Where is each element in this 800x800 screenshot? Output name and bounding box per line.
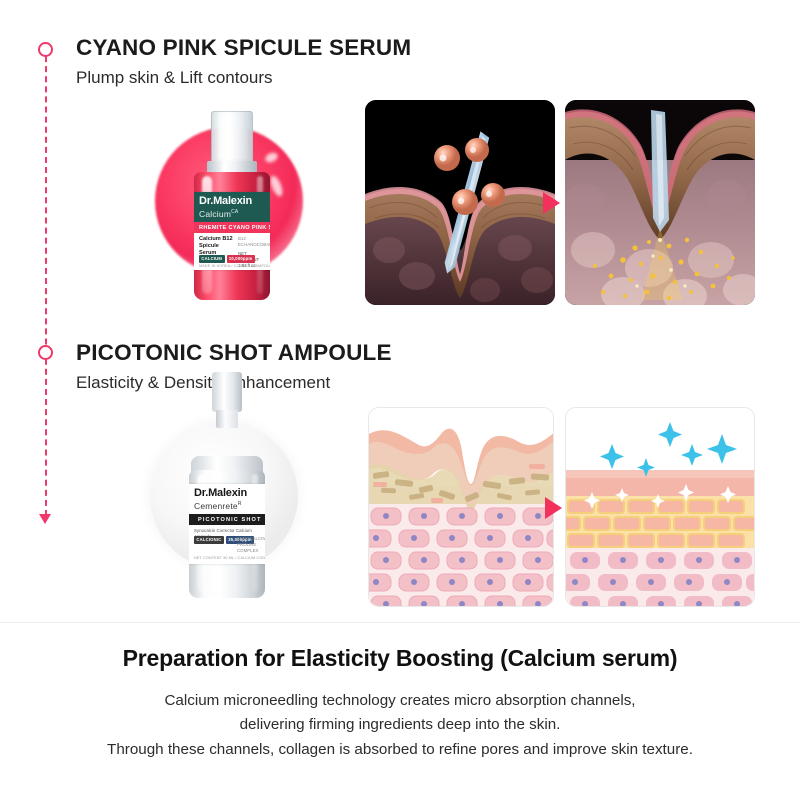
label-name-column: Calcium B12 Spicule Serum — [199, 236, 235, 257]
product-2-image: Dr.Malexin CemenreteR PICOTONIC SHOT Syn… — [115, 400, 345, 600]
product-1-image: Dr.Malexin CalciumCA RHEMITE CYANO PINK … — [120, 105, 350, 305]
label-accent-band: RHEMITE CYANO PINK SPICULE SERUM — [194, 222, 270, 233]
panel-wrinkled-skin-before — [368, 407, 554, 607]
ampoule-bottle-2: Dr.Malexin CemenreteR PICOTONIC SHOT Syn… — [185, 406, 269, 598]
bottom-body-line-2: delivering firming ingredients deep into… — [0, 713, 800, 738]
product-name-line-1: Calcium B12 — [199, 236, 235, 243]
label-details: Calcium B12 Spicule Serum B12 ECHANOCOBA… — [194, 233, 270, 270]
section-1-subtitle: Plump skin & Lift contours — [76, 68, 411, 88]
label-accent-band-2: PICOTONIC SHOT — [189, 514, 265, 525]
badge-calcionic: CALCIONIC — [194, 536, 224, 544]
ampoule-body: Dr.Malexin CemenreteR PICOTONIC SHOT Syn… — [189, 470, 265, 598]
bottom-body-line-3: Through these channels, collagen is abso… — [0, 738, 800, 763]
brand-name: Dr.Malexin — [199, 195, 266, 207]
section-1-title: CYANO PINK SPICULE SERUM — [76, 36, 411, 61]
ingredient-name-2: PROLINE COMPLEX — [237, 542, 265, 554]
product-line-superscript-2: R — [238, 501, 242, 507]
panel-spicule-needle-pore-before — [365, 100, 555, 305]
calcium-bead — [434, 145, 460, 171]
label-details-2: Synocalcin Corrector Calcium Ampoule CAL… — [189, 525, 265, 562]
badge-ppm: 10,000ppm — [227, 255, 255, 263]
product-line-name-2: CemenreteR — [194, 499, 261, 511]
section-2-title: PICOTONIC SHOT AMPOULE — [76, 341, 392, 366]
bottom-body: Calcium microneedling technology creates… — [0, 689, 800, 763]
badge-calcium: CALCIUM — [199, 255, 225, 263]
label-footer: MADE IN KOREA / COSMETIC AMPOULE FOR ALL… — [199, 264, 266, 268]
bottom-description-block: Preparation for Elasticity Boosting (Cal… — [0, 645, 800, 762]
product-line-name: CalciumCA — [199, 207, 266, 219]
bottom-body-line-1: Calcium microneedling technology creates… — [0, 689, 800, 714]
bottom-title: Preparation for Elasticity Boosting (Cal… — [0, 645, 800, 673]
firm-skin-illustration — [566, 408, 755, 607]
section-divider — [0, 622, 800, 623]
section-1-heading-block: CYANO PINK SPICULE SERUM Plump skin & Li… — [76, 36, 411, 87]
bottle-cap — [211, 111, 253, 163]
section-1-arrow-right-icon — [543, 192, 560, 214]
infographic-page: CYANO PINK SPICULE SERUM Plump skin & Li… — [0, 0, 800, 800]
brand-name-2: Dr.Malexin — [194, 487, 261, 499]
section-2-arrow-right-icon — [545, 497, 562, 519]
product-1-label: Dr.Malexin CalciumCA RHEMITE CYANO PINK … — [194, 192, 270, 270]
label-badges: CALCIUM 10,000ppm — [199, 255, 255, 263]
spicule-pore-illustration — [365, 100, 555, 305]
label-footer-2: NET CONTENT 30 ML / CALCIUM CONCENTRATE — [194, 556, 261, 560]
panel-spicule-absorption-after — [565, 100, 755, 305]
product-line-superscript: CA — [231, 209, 238, 215]
serum-bottle-1: Dr.Malexin CalciumCA RHEMITE CYANO PINK … — [190, 111, 274, 303]
section-cyano-pink-spicule-serum: CYANO PINK SPICULE SERUM Plump skin & Li… — [0, 0, 800, 315]
ingredient-name: ECHANOCOBALAMIN — [238, 242, 268, 248]
product-line-text: Calcium — [199, 209, 231, 219]
cap-sheen — [218, 115, 248, 159]
label-header-band: Dr.Malexin CalciumCA — [194, 192, 270, 222]
dropper-cap — [212, 372, 242, 412]
calcium-absorption-illustration — [565, 100, 755, 305]
bottle-body: Dr.Malexin CalciumCA RHEMITE CYANO PINK … — [194, 172, 270, 300]
product-2-label: Dr.Malexin CemenreteR PICOTONIC SHOT Syn… — [189, 484, 265, 564]
product-line-text-2: Cemenrete — [194, 501, 238, 511]
dropper-neck — [216, 410, 238, 428]
panel-firm-skin-after — [565, 407, 755, 607]
wrinkled-skin-illustration — [369, 408, 554, 607]
label-header-band-2: Dr.Malexin CemenreteR — [189, 484, 265, 514]
